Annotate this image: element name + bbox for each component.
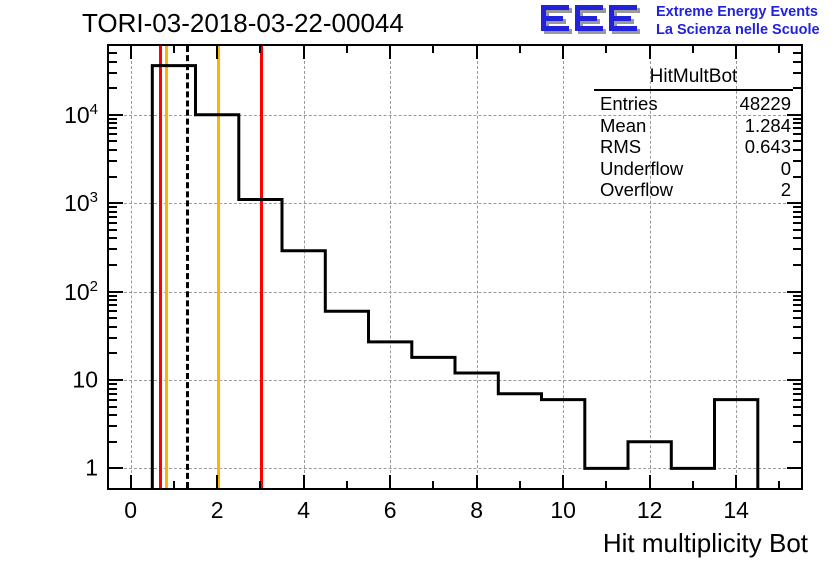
x-tick-major bbox=[216, 46, 218, 59]
x-tick-major bbox=[649, 475, 651, 488]
y-axis-tick-label: 103 bbox=[0, 189, 98, 217]
y-tick-major bbox=[109, 114, 123, 116]
y-tick-minor bbox=[109, 149, 117, 151]
x-tick-minor bbox=[519, 46, 521, 53]
x-tick-minor bbox=[692, 46, 694, 53]
y-tick-minor bbox=[109, 133, 117, 135]
stats-row-label: Underflow bbox=[600, 158, 683, 180]
y-tick-minor bbox=[109, 229, 117, 231]
stats-row-label: Mean bbox=[600, 115, 646, 137]
stats-row: Underflow0 bbox=[588, 158, 799, 180]
stats-row-label: RMS bbox=[600, 136, 641, 158]
eee-logo-line1: Extreme Energy Events bbox=[656, 3, 820, 21]
y-tick-minor bbox=[109, 61, 117, 63]
y-tick-minor bbox=[109, 425, 117, 427]
x-tick-minor bbox=[173, 46, 175, 53]
page-title: TORI-03-2018-03-22-00044 bbox=[82, 8, 404, 39]
y-tick-minor bbox=[793, 352, 801, 354]
stats-row: Entries48229 bbox=[588, 93, 799, 115]
y-tick-minor bbox=[793, 229, 801, 231]
y-tick-minor bbox=[793, 414, 801, 416]
eee-logo-text: Extreme Energy Events La Scienza nelle S… bbox=[656, 3, 820, 39]
y-tick-minor bbox=[793, 406, 801, 408]
eee-logo-line2: La Scienza nelle Scuole bbox=[656, 21, 820, 39]
y-tick-minor bbox=[109, 310, 117, 312]
y-tick-major bbox=[109, 467, 123, 469]
y-tick-minor bbox=[109, 222, 117, 224]
y-tick-major bbox=[109, 202, 123, 204]
y-tick-minor bbox=[793, 211, 801, 213]
x-tick-major bbox=[735, 46, 737, 59]
y-tick-minor bbox=[793, 52, 801, 54]
stats-row-value: 48229 bbox=[740, 93, 791, 115]
y-axis-tick-label: 1 bbox=[0, 455, 98, 482]
x-tick-minor bbox=[432, 481, 434, 488]
y-tick-minor bbox=[793, 299, 801, 301]
x-tick-minor bbox=[346, 481, 348, 488]
stats-row-label: Entries bbox=[600, 93, 658, 115]
y-tick-minor bbox=[109, 176, 117, 178]
stats-row-label: Overflow bbox=[600, 179, 673, 201]
y-tick-minor bbox=[109, 295, 117, 297]
x-tick-minor bbox=[346, 46, 348, 53]
stats-rows: Entries48229Mean1.284RMS0.643Underflow0O… bbox=[588, 93, 799, 201]
y-tick-minor bbox=[793, 393, 801, 395]
y-tick-minor bbox=[109, 352, 117, 354]
x-tick-minor bbox=[519, 481, 521, 488]
x-tick-major bbox=[130, 475, 132, 488]
y-tick-minor bbox=[793, 326, 801, 328]
x-tick-major bbox=[389, 46, 391, 59]
y-tick-minor bbox=[793, 425, 801, 427]
y-tick-minor bbox=[109, 72, 117, 74]
eee-logo-mark bbox=[538, 2, 648, 40]
y-tick-minor bbox=[109, 399, 117, 401]
y-tick-minor bbox=[109, 160, 117, 162]
y-tick-major bbox=[787, 379, 801, 381]
x-tick-minor bbox=[778, 46, 780, 53]
y-tick-minor bbox=[109, 299, 117, 301]
y-tick-minor bbox=[109, 414, 117, 416]
y-tick-minor bbox=[109, 140, 117, 142]
y-tick-minor bbox=[109, 122, 117, 124]
x-tick-minor bbox=[692, 481, 694, 488]
stats-row-value: 0 bbox=[781, 158, 791, 180]
y-tick-minor bbox=[793, 206, 801, 208]
x-tick-major bbox=[649, 46, 651, 59]
y-tick-major bbox=[787, 202, 801, 204]
y-tick-minor bbox=[109, 237, 117, 239]
y-tick-minor bbox=[793, 388, 801, 390]
y-tick-minor bbox=[793, 248, 801, 250]
x-tick-minor bbox=[605, 481, 607, 488]
x-axis-title: Hit multiplicity Bot bbox=[603, 528, 808, 559]
y-tick-minor bbox=[793, 222, 801, 224]
x-axis-tick-label: 14 bbox=[723, 497, 749, 524]
x-tick-major bbox=[389, 475, 391, 488]
y-tick-minor bbox=[793, 383, 801, 385]
y-tick-minor bbox=[109, 211, 117, 213]
y-tick-minor bbox=[109, 326, 117, 328]
x-tick-minor bbox=[259, 481, 261, 488]
x-tick-minor bbox=[173, 481, 175, 488]
y-tick-minor bbox=[793, 216, 801, 218]
x-axis-tick-label: 4 bbox=[297, 497, 310, 524]
x-axis-tick-label: 10 bbox=[550, 497, 576, 524]
x-tick-major bbox=[303, 46, 305, 59]
x-tick-minor bbox=[605, 46, 607, 53]
y-tick-minor bbox=[109, 304, 117, 306]
y-tick-minor bbox=[109, 127, 117, 129]
y-tick-major bbox=[109, 291, 123, 293]
y-tick-minor bbox=[793, 237, 801, 239]
x-tick-major bbox=[562, 46, 564, 59]
y-tick-minor bbox=[793, 317, 801, 319]
y-tick-minor bbox=[793, 295, 801, 297]
stats-row-value: 1.284 bbox=[745, 115, 791, 137]
y-tick-minor bbox=[793, 264, 801, 266]
stats-row: Overflow2 bbox=[588, 179, 799, 201]
y-tick-minor bbox=[109, 206, 117, 208]
x-tick-major bbox=[216, 475, 218, 488]
y-tick-minor bbox=[109, 52, 117, 54]
x-axis-tick-label: 0 bbox=[124, 497, 137, 524]
x-tick-minor bbox=[778, 481, 780, 488]
y-tick-minor bbox=[109, 248, 117, 250]
y-tick-minor bbox=[109, 317, 117, 319]
y-tick-minor bbox=[793, 310, 801, 312]
y-tick-minor bbox=[109, 383, 117, 385]
stats-title: HitMultBot bbox=[588, 66, 799, 89]
y-tick-minor bbox=[109, 264, 117, 266]
y-axis-tick-label: 104 bbox=[0, 101, 98, 129]
y-tick-minor bbox=[109, 388, 117, 390]
x-tick-major bbox=[476, 46, 478, 59]
stats-row: Mean1.284 bbox=[588, 115, 799, 137]
y-axis-tick-label: 10 bbox=[0, 366, 98, 393]
x-axis-tick-label: 2 bbox=[211, 497, 224, 524]
x-tick-major bbox=[562, 475, 564, 488]
eee-logo: Extreme Energy Events La Scienza nelle S… bbox=[538, 2, 834, 42]
y-tick-minor bbox=[109, 337, 117, 339]
x-tick-major bbox=[476, 475, 478, 488]
stats-divider bbox=[594, 89, 793, 91]
y-tick-minor bbox=[109, 87, 117, 89]
root-canvas: TORI-03-2018-03-22-00044 Extreme Ene bbox=[0, 0, 836, 572]
x-axis-tick-label: 6 bbox=[384, 497, 397, 524]
y-tick-minor bbox=[793, 441, 801, 443]
y-tick-minor bbox=[793, 399, 801, 401]
stats-box: HitMultBot Entries48229Mean1.284RMS0.643… bbox=[588, 66, 799, 201]
y-tick-major bbox=[787, 291, 801, 293]
y-tick-minor bbox=[793, 337, 801, 339]
stats-row: RMS0.643 bbox=[588, 136, 799, 158]
y-tick-major bbox=[787, 467, 801, 469]
y-axis-tick-label: 102 bbox=[0, 278, 98, 306]
y-tick-minor bbox=[109, 393, 117, 395]
y-tick-minor bbox=[109, 441, 117, 443]
stats-row-value: 2 bbox=[781, 179, 791, 201]
x-tick-major bbox=[303, 475, 305, 488]
y-tick-minor bbox=[109, 406, 117, 408]
x-tick-minor bbox=[432, 46, 434, 53]
x-tick-minor bbox=[259, 46, 261, 53]
stats-row-value: 0.643 bbox=[745, 136, 791, 158]
x-tick-major bbox=[735, 475, 737, 488]
y-tick-minor bbox=[109, 118, 117, 120]
y-tick-minor bbox=[793, 304, 801, 306]
x-axis-tick-label: 8 bbox=[470, 497, 483, 524]
y-tick-major bbox=[109, 379, 123, 381]
y-tick-minor bbox=[109, 216, 117, 218]
x-axis-tick-label: 12 bbox=[637, 497, 663, 524]
y-tick-minor bbox=[793, 61, 801, 63]
x-tick-major bbox=[130, 46, 132, 59]
